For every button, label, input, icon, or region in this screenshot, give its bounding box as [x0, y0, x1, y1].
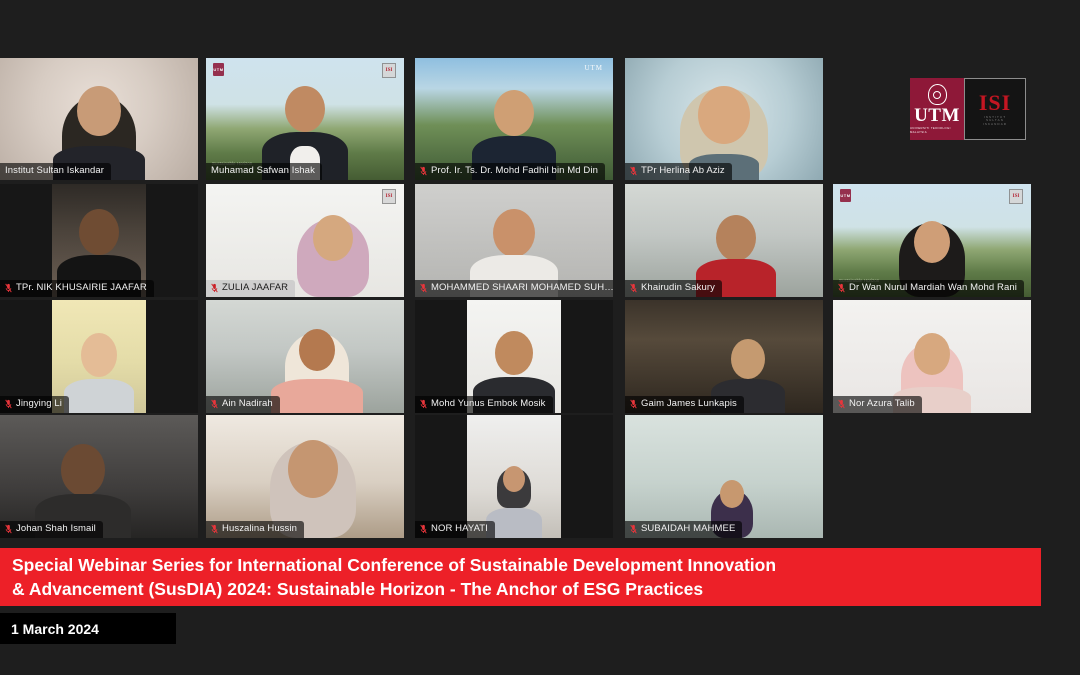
- participant-nameplate: NOR HAYATI: [415, 521, 495, 538]
- participant-nameplate: TPr Herlina Ab Aziz: [625, 163, 732, 180]
- participant-nameplate: Prof. Ir. Ts. Dr. Mohd Fadhil bin Md Din: [415, 163, 605, 180]
- banner-line-1: Special Webinar Series for International…: [12, 553, 1029, 577]
- participant-nameplate: Gaim James Lunkapis: [625, 396, 744, 413]
- participant-nameplate: Institut Sultan Iskandar: [0, 163, 111, 180]
- organizer-logos: UTM UNIVERSITI TEKNOLOGI MALAYSIA ISI IN…: [910, 78, 1026, 140]
- participant-tile[interactable]: Ain Nadirah: [206, 300, 404, 413]
- utm-watermark-text: UTM: [584, 64, 603, 72]
- microphone-muted-icon: [420, 283, 427, 293]
- microphone-muted-icon: [630, 283, 637, 293]
- utm-logo-subtitle: UNIVERSITI TEKNOLOGI MALAYSIA: [910, 126, 964, 134]
- video-feed: [0, 58, 198, 180]
- video-feed: UTM ISI Sustainable Horizon: [206, 58, 404, 180]
- participant-name: SUBAIDAH MAHMEE: [641, 523, 735, 535]
- microphone-muted-icon: [630, 399, 637, 409]
- microphone-muted-icon: [420, 399, 427, 409]
- participant-name: Jingying Li: [16, 398, 62, 410]
- participant-name: Gaim James Lunkapis: [641, 398, 737, 410]
- feed-logo-isi-icon: ISI: [382, 63, 396, 78]
- participant-name: Ain Nadirah: [222, 398, 273, 410]
- participant-nameplate: Khairudin Sakury: [625, 280, 722, 297]
- isi-logo: ISI INSTITUT SULTAN ISKANDAR: [964, 78, 1026, 140]
- feed-logo-isi-icon: ISI: [382, 189, 396, 204]
- video-feed: [415, 415, 613, 538]
- participant-name: Huszalina Hussin: [222, 523, 297, 535]
- video-feed: [0, 415, 198, 538]
- participant-tile[interactable]: NOR HAYATI: [415, 415, 613, 538]
- utm-logo-title: UTM: [914, 106, 960, 125]
- participant-name: Mohd Yunus Embok Mosik: [431, 398, 546, 410]
- microphone-muted-icon: [5, 283, 12, 293]
- microphone-muted-icon: [630, 524, 637, 534]
- participant-tile[interactable]: MOHAMMED SHAARI MOHAMED SUHAIMI: [415, 184, 613, 297]
- participant-name: MOHAMMED SHAARI MOHAMED SUHAIMI: [431, 282, 613, 294]
- participant-nameplate: SUBAIDAH MAHMEE: [625, 521, 742, 538]
- microphone-muted-icon: [838, 399, 845, 409]
- participant-tile[interactable]: Huszalina Hussin: [206, 415, 404, 538]
- participant-nameplate: Ain Nadirah: [206, 396, 280, 413]
- participant-name: Nor Azura Talib: [849, 398, 915, 410]
- participant-name: ZULIA JAAFAR: [222, 282, 288, 294]
- participant-tile[interactable]: Mohd Yunus Embok Mosik: [415, 300, 613, 413]
- event-date-box: 1 March 2024: [0, 613, 176, 644]
- participant-name: Khairudin Sakury: [641, 282, 715, 294]
- isi-logo-subtitle: INSTITUT SULTAN ISKANDAR: [983, 116, 1007, 127]
- participant-nameplate: TPr. NIK KHUSAIRIE JAAFAR: [0, 280, 154, 297]
- video-feed: UTM: [415, 58, 613, 180]
- video-feed: [206, 415, 404, 538]
- participant-tile[interactable]: Nor Azura Talib: [833, 300, 1031, 413]
- microphone-muted-icon: [420, 166, 427, 176]
- participant-tile[interactable]: Jingying Li: [0, 300, 198, 413]
- feed-logo-utm-icon: UTM: [840, 189, 851, 202]
- video-feed: [625, 415, 823, 538]
- participant-nameplate: Johan Shah Ismail: [0, 521, 103, 538]
- participant-tile[interactable]: Institut Sultan Iskandar: [0, 58, 198, 180]
- participant-tile[interactable]: SUBAIDAH MAHMEE: [625, 415, 823, 538]
- participant-name: Dr Wan Nurul Mardiah Wan Mohd Rani: [849, 282, 1017, 294]
- microphone-muted-icon: [211, 399, 218, 409]
- participant-name: TPr. NIK KHUSAIRIE JAAFAR: [16, 282, 147, 294]
- participant-nameplate: Muhamad Safwan Ishak: [206, 163, 322, 180]
- microphone-muted-icon: [211, 524, 218, 534]
- utm-emblem-icon: [928, 84, 947, 105]
- participant-nameplate: MOHAMMED SHAARI MOHAMED SUHAIMI: [415, 280, 613, 297]
- participant-nameplate: Mohd Yunus Embok Mosik: [415, 396, 553, 413]
- feed-logo-isi-icon: ISI: [1009, 189, 1023, 204]
- participant-tile[interactable]: Khairudin Sakury: [625, 184, 823, 297]
- participant-tile[interactable]: UTM Prof. Ir. Ts. Dr. Mohd Fadhil bin Md…: [415, 58, 613, 180]
- participant-nameplate: Nor Azura Talib: [833, 396, 922, 413]
- microphone-muted-icon: [420, 524, 427, 534]
- participant-tile[interactable]: TPr. NIK KHUSAIRIE JAAFAR: [0, 184, 198, 297]
- microphone-muted-icon: [5, 524, 12, 534]
- participant-tile[interactable]: Gaim James Lunkapis: [625, 300, 823, 413]
- participant-nameplate: Jingying Li: [0, 396, 69, 413]
- video-conference-stage: Institut Sultan Iskandar UTM ISI Sustain…: [0, 0, 1080, 675]
- participant-name: Muhamad Safwan Ishak: [211, 165, 315, 177]
- participant-tile[interactable]: ISI ZULIA JAAFAR: [206, 184, 404, 297]
- participant-nameplate: ZULIA JAAFAR: [206, 280, 295, 297]
- video-feed: [625, 58, 823, 180]
- participant-name: Johan Shah Ismail: [16, 523, 96, 535]
- microphone-muted-icon: [211, 283, 218, 293]
- participant-tile[interactable]: Johan Shah Ismail: [0, 415, 198, 538]
- isi-logo-title: ISI: [979, 92, 1011, 114]
- participant-name: TPr Herlina Ab Aziz: [641, 165, 725, 177]
- participant-name: NOR HAYATI: [431, 523, 488, 535]
- utm-logo: UTM UNIVERSITI TEKNOLOGI MALAYSIA: [910, 78, 964, 140]
- participant-tile[interactable]: TPr Herlina Ab Aziz: [625, 58, 823, 180]
- microphone-muted-icon: [5, 399, 12, 409]
- banner-line-2: & Advancement (SusDIA) 2024: Sustainable…: [12, 577, 1029, 601]
- participant-nameplate: Dr Wan Nurul Mardiah Wan Mohd Rani: [833, 280, 1024, 297]
- participant-name: Prof. Ir. Ts. Dr. Mohd Fadhil bin Md Din: [431, 165, 598, 177]
- microphone-muted-icon: [630, 166, 637, 176]
- participant-name: Institut Sultan Iskandar: [5, 165, 104, 177]
- participant-tile[interactable]: UTM ISI Sustainable Horizon Muhamad Safw…: [206, 58, 404, 180]
- feed-logo-utm-icon: UTM: [213, 63, 224, 76]
- event-date: 1 March 2024: [11, 621, 99, 637]
- microphone-muted-icon: [838, 283, 845, 293]
- participant-tile[interactable]: UTM ISI Sustainable Horizon Dr Wan Nurul…: [833, 184, 1031, 297]
- participant-nameplate: Huszalina Hussin: [206, 521, 304, 538]
- event-title-banner: Special Webinar Series for International…: [0, 548, 1041, 606]
